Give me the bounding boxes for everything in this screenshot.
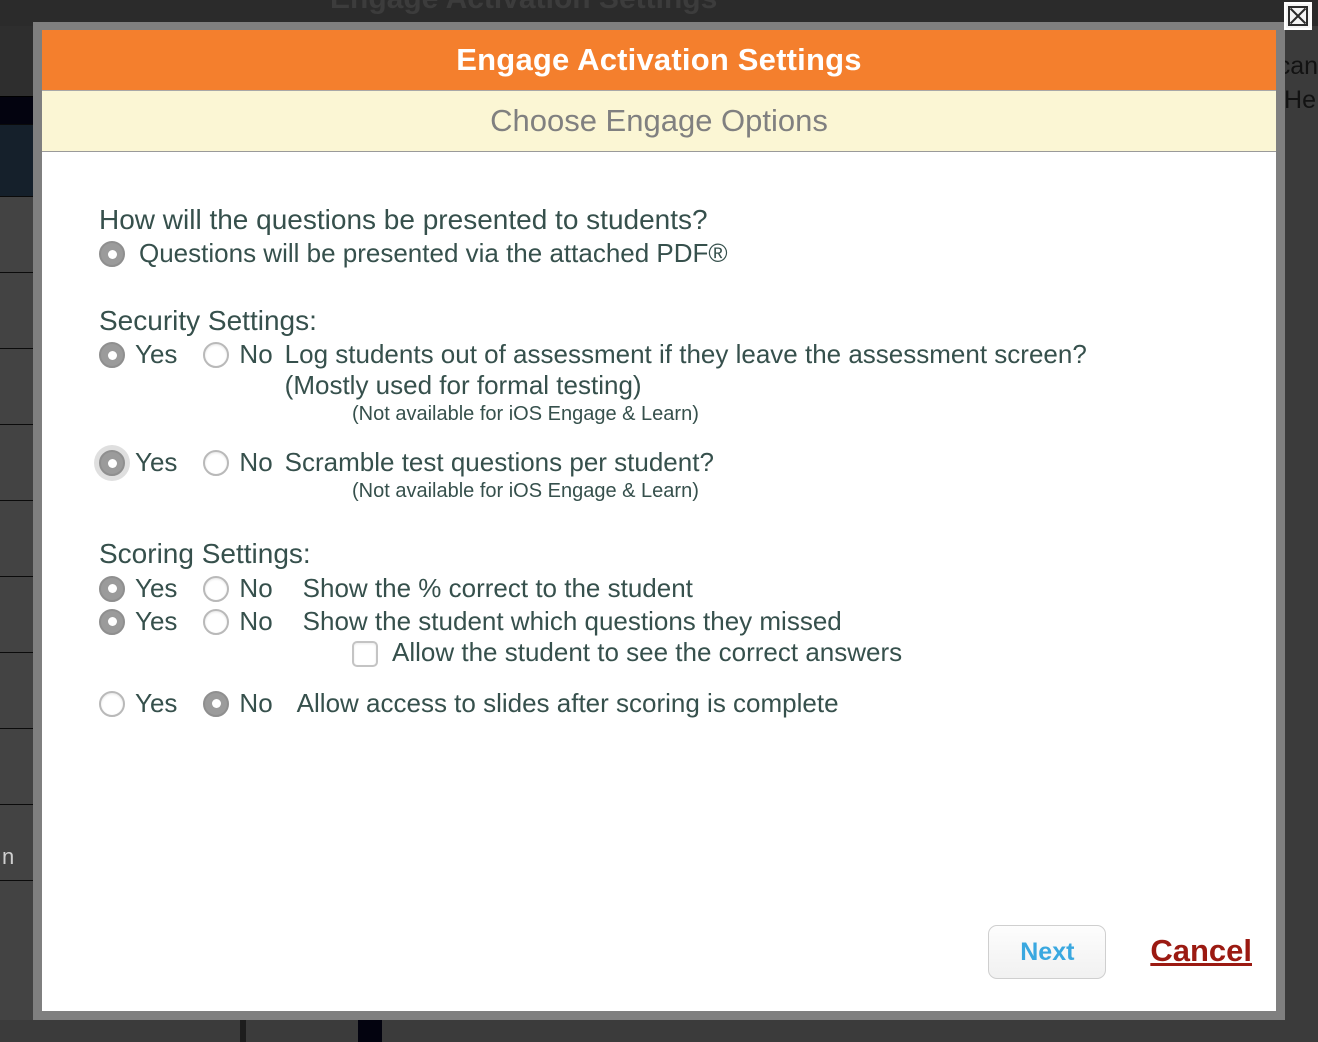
checkbox-see-correct-answers[interactable] (352, 641, 378, 667)
close-icon (1288, 6, 1308, 26)
radio-presented-via-pdf[interactable] (99, 241, 125, 267)
radio-logout-yes[interactable] (99, 342, 125, 368)
next-button-label: Next (1020, 938, 1074, 967)
radio-scramble-no[interactable] (203, 450, 229, 476)
table-row (0, 653, 33, 729)
security-row-scramble-text: Scramble test questions per student? (285, 447, 714, 478)
security-heading: Security Settings: (99, 305, 1276, 337)
radio-slides-no-label: No (239, 688, 272, 718)
yes-no-group-slides[interactable]: Yes No (99, 688, 285, 718)
radio-logout-no-label: No (239, 339, 272, 369)
next-button[interactable]: Next (988, 925, 1106, 979)
scoring-correct-answers-row[interactable]: Allow the student to see the correct ans… (352, 637, 1276, 668)
spacer (99, 504, 1276, 538)
spacer (99, 271, 1276, 305)
yes-no-group-missed[interactable]: Yes No (99, 606, 285, 636)
table-row (0, 501, 33, 577)
backdrop-bottom-mark-2 (358, 1020, 382, 1042)
radio-slides-yes[interactable] (99, 691, 125, 717)
radio-percent-no[interactable] (203, 576, 229, 602)
radio-missed-no[interactable] (203, 609, 229, 635)
backdrop-right-word-2: He (1284, 86, 1316, 115)
security-row-logout-text: Log students out of assessment if they l… (285, 339, 1105, 401)
scoring-row-slides[interactable]: Yes No Allow access to slides after scor… (99, 688, 1276, 719)
radio-scramble-no-label: No (239, 447, 272, 477)
security-row-logout[interactable]: Yes No Log students out of assessment if… (99, 339, 1276, 401)
security-row-logout-note: (Not available for iOS Engage & Learn) (352, 401, 1276, 427)
yes-no-group-logout[interactable]: Yes No (99, 339, 285, 369)
radio-percent-no-label: No (239, 573, 272, 603)
backdrop-bottom-strip (0, 1020, 1318, 1042)
radio-slides-yes-label: Yes (135, 688, 177, 718)
dialog-title-bar: Engage Activation Settings (42, 30, 1276, 91)
dialog-title: Engage Activation Settings (456, 42, 861, 78)
security-row-scramble-note: (Not available for iOS Engage & Learn) (352, 478, 1276, 504)
backdrop-bottom-mark (240, 1020, 246, 1042)
radio-logout-yes-label: Yes (135, 339, 177, 369)
table-row (0, 125, 33, 197)
radio-percent-yes[interactable] (99, 576, 125, 602)
yes-no-group-percent[interactable]: Yes No (99, 573, 285, 603)
scoring-correct-answers-label: Allow the student to see the correct ans… (392, 637, 902, 668)
cancel-link-label: Cancel (1150, 933, 1252, 968)
table-row (0, 425, 33, 501)
table-row (0, 729, 33, 805)
spacer (99, 427, 1276, 447)
table-row (0, 273, 33, 349)
radio-missed-no-label: No (239, 606, 272, 636)
yes-no-group-scramble[interactable]: Yes No (99, 447, 285, 477)
dialog-footer: Next Cancel (988, 925, 1252, 979)
cancel-link[interactable]: Cancel (1150, 933, 1252, 971)
radio-scramble-yes-label: Yes (135, 447, 177, 477)
table-row (0, 349, 33, 425)
radio-missed-yes[interactable] (99, 609, 125, 635)
scoring-row-percent-text: Show the % correct to the student (303, 573, 693, 604)
table-row (0, 97, 33, 125)
radio-percent-yes-label: Yes (135, 573, 177, 603)
table-row (0, 805, 33, 881)
radio-logout-no[interactable] (203, 342, 229, 368)
presentation-option-row[interactable]: Questions will be presented via the atta… (99, 238, 1276, 269)
backdrop-table-glyph: n (2, 846, 14, 868)
table-row (0, 577, 33, 653)
dialog-subtitle-bar: Choose Engage Options (42, 91, 1276, 152)
presentation-heading: How will the questions be presented to s… (99, 204, 1276, 236)
scoring-heading: Scoring Settings: (99, 538, 1276, 570)
radio-slides-no[interactable] (203, 691, 229, 717)
scoring-row-percent[interactable]: Yes No Show the % correct to the student (99, 573, 1276, 604)
security-row-scramble[interactable]: Yes No Scramble test questions per stude… (99, 447, 1276, 478)
close-button[interactable] (1284, 2, 1312, 30)
radio-missed-yes-label: Yes (135, 606, 177, 636)
radio-scramble-yes[interactable] (99, 450, 125, 476)
spacer (99, 668, 1276, 688)
scoring-row-missed-text: Show the student which questions they mi… (303, 606, 842, 637)
backdrop-table (0, 96, 33, 1042)
backdrop-page-title: Engage Activation Settings (330, 0, 717, 16)
engage-activation-settings-dialog: Engage Activation Settings Choose Engage… (33, 22, 1285, 1020)
scoring-row-slides-text: Allow access to slides after scoring is … (297, 688, 839, 719)
dialog-subtitle: Choose Engage Options (490, 103, 828, 139)
table-row (0, 197, 33, 273)
scoring-row-missed[interactable]: Yes No Show the student which questions … (99, 606, 1276, 637)
presentation-option-label: Questions will be presented via the atta… (139, 238, 728, 269)
dialog-body: How will the questions be presented to s… (42, 152, 1276, 1009)
